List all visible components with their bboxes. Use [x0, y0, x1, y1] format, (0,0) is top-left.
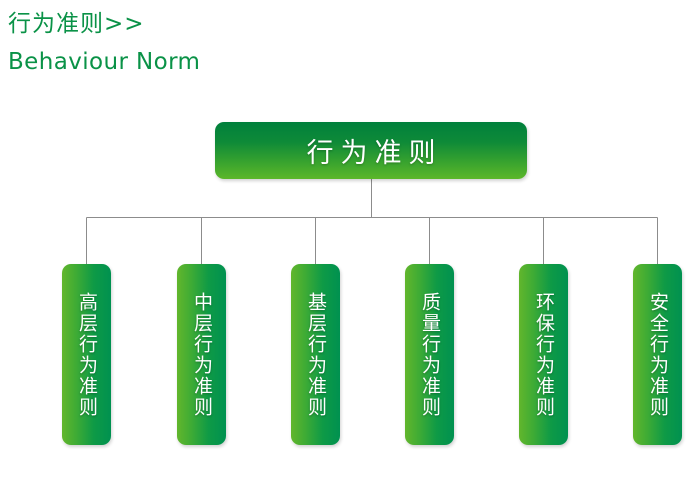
- node-child-zhiliang[interactable]: 质量行为准则: [405, 264, 454, 445]
- node-child-label: 质量行为准则: [417, 280, 442, 430]
- page-title: Behaviour Norm: [8, 46, 508, 78]
- behaviour-norm-org-chart: 行为准则>> Behaviour Norm 行为准则 高层行为准则 中层行为准则…: [0, 0, 697, 486]
- node-root-label: 行为准则: [300, 131, 443, 170]
- node-child-anquan[interactable]: 安全行为准则: [633, 264, 682, 445]
- node-child-zhongceng[interactable]: 中层行为准则: [177, 264, 226, 445]
- breadcrumb: 行为准则>>: [8, 8, 508, 40]
- node-child-label: 高层行为准则: [74, 280, 99, 430]
- node-child-jiceng[interactable]: 基层行为准则: [291, 264, 340, 445]
- node-child-label: 基层行为准则: [303, 280, 328, 430]
- node-child-huanbao[interactable]: 环保行为准则: [519, 264, 568, 445]
- node-child-label: 环保行为准则: [531, 280, 556, 430]
- page-header: 行为准则>> Behaviour Norm: [8, 8, 508, 78]
- node-child-label: 安全行为准则: [645, 280, 670, 430]
- node-child-gaoceng[interactable]: 高层行为准则: [62, 264, 111, 445]
- node-child-label: 中层行为准则: [189, 280, 214, 430]
- node-root[interactable]: 行为准则: [215, 122, 527, 179]
